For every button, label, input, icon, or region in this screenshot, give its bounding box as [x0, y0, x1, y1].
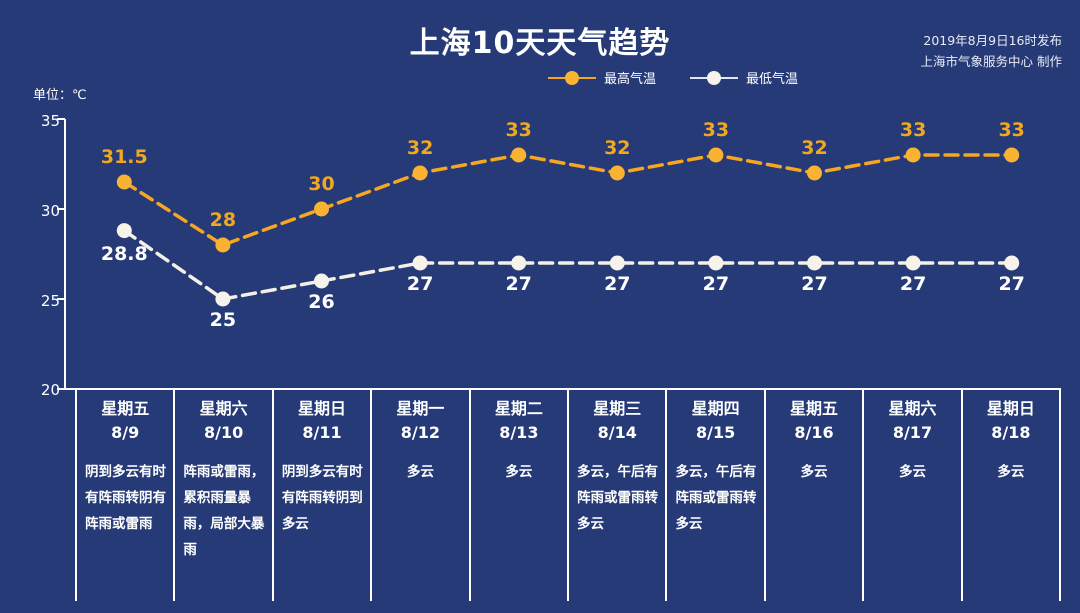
data-point-marker — [807, 166, 822, 181]
high-temp-value-label: 33 — [484, 119, 554, 141]
high-temp-value-label: 33 — [878, 119, 948, 141]
low-temp-value-label: 27 — [878, 273, 948, 295]
day-weekday-label: 星期一 — [372, 397, 468, 421]
day-date-label: 8/11 — [274, 421, 370, 445]
data-point-marker — [413, 256, 428, 271]
low-temp-value-label: 27 — [484, 273, 554, 295]
data-point-marker — [807, 256, 822, 271]
day-date-label: 8/12 — [372, 421, 468, 445]
series-line-high-temp — [124, 155, 1011, 245]
line-marker-icon-high — [548, 70, 596, 86]
day-date-label: 8/16 — [766, 421, 862, 445]
data-point-marker — [117, 223, 132, 238]
low-temp-value-label: 27 — [977, 273, 1047, 295]
day-column[interactable]: 星期二8/13多云 — [469, 389, 567, 601]
day-weather-description: 多云 — [768, 459, 860, 485]
day-weather-description: 阴到多云有时有阵雨转阴到多云 — [276, 459, 368, 537]
low-temp-value-label: 25 — [188, 309, 258, 331]
data-point-marker — [610, 256, 625, 271]
data-point-marker — [117, 175, 132, 190]
day-weekday-label: 星期日 — [963, 397, 1059, 421]
data-point-marker — [708, 256, 723, 271]
day-column[interactable]: 星期六8/10阵雨或雷雨，累积雨量暴雨，局部大暴雨 — [173, 389, 271, 601]
data-point-marker — [708, 148, 723, 163]
legend-label-high-temp: 最高气温 — [604, 68, 656, 87]
high-temp-value-label: 33 — [681, 119, 751, 141]
legend-item-low-temp: 最低气温 — [690, 68, 798, 87]
weather-trend-chart-page: 上海10天天气趋势 2019年8月9日16时发布 上海市气象服务中心 制作 最高… — [0, 0, 1080, 613]
day-column[interactable]: 星期五8/16多云 — [764, 389, 862, 601]
day-date-label: 8/17 — [864, 421, 960, 445]
data-point-marker — [610, 166, 625, 181]
day-date-label: 8/13 — [471, 421, 567, 445]
day-weekday-label: 星期二 — [471, 397, 567, 421]
day-weekday-label: 星期三 — [569, 397, 665, 421]
day-weekday-label: 星期四 — [667, 397, 763, 421]
day-weekday-label: 星期日 — [274, 397, 370, 421]
high-temp-value-label: 33 — [977, 119, 1047, 141]
day-date-label: 8/10 — [175, 421, 271, 445]
day-column[interactable]: 星期日8/18多云 — [961, 389, 1061, 601]
day-column[interactable]: 星期三8/14多云，午后有阵雨或雷雨转多云 — [567, 389, 665, 601]
day-weekday-label: 星期六 — [864, 397, 960, 421]
day-weather-description: 多云 — [374, 459, 466, 485]
data-point-marker — [314, 274, 329, 289]
chart-legend: 最高气温 最低气温 — [548, 68, 798, 87]
low-temp-value-label: 27 — [681, 273, 751, 295]
data-point-marker — [314, 202, 329, 217]
chart-axes — [57, 119, 1061, 389]
day-column[interactable]: 星期日8/11阴到多云有时有阵雨转阴到多云 — [272, 389, 370, 601]
y-tick-20: 20 — [20, 381, 60, 399]
line-marker-icon-low — [690, 70, 738, 86]
legend-item-high-temp: 最高气温 — [548, 68, 656, 87]
day-columns: 星期五8/9阴到多云有时有阵雨转阴有阵雨或雷雨星期六8/10阵雨或雷雨，累积雨量… — [75, 389, 1061, 601]
high-temp-value-label: 32 — [385, 137, 455, 159]
data-point-marker — [413, 166, 428, 181]
day-weather-description: 多云 — [866, 459, 958, 485]
data-point-marker — [215, 292, 230, 307]
day-column[interactable]: 星期四8/15多云，午后有阵雨或雷雨转多云 — [665, 389, 763, 601]
low-temp-value-label: 27 — [582, 273, 652, 295]
legend-label-low-temp: 最低气温 — [746, 68, 798, 87]
publish-time: 2019年8月9日16时发布 — [921, 30, 1062, 51]
y-tick-35: 35 — [20, 112, 60, 130]
publication-info: 2019年8月9日16时发布 上海市气象服务中心 制作 — [921, 30, 1062, 72]
day-weekday-label: 星期六 — [175, 397, 271, 421]
day-date-label: 8/9 — [77, 421, 173, 445]
data-point-marker — [906, 256, 921, 271]
data-point-marker — [511, 148, 526, 163]
high-temp-value-label: 32 — [780, 137, 850, 159]
high-temp-value-label: 32 — [582, 137, 652, 159]
data-point-marker — [215, 238, 230, 253]
day-column[interactable]: 星期五8/9阴到多云有时有阵雨转阴有阵雨或雷雨 — [75, 389, 173, 601]
day-weather-description: 多云，午后有阵雨或雷雨转多云 — [669, 459, 761, 537]
low-temp-value-label: 26 — [287, 291, 357, 313]
data-point-marker — [1004, 256, 1019, 271]
day-date-label: 8/15 — [667, 421, 763, 445]
day-column[interactable]: 星期六8/17多云 — [862, 389, 960, 601]
data-point-marker — [906, 148, 921, 163]
day-weekday-label: 星期五 — [766, 397, 862, 421]
y-tick-25: 25 — [20, 292, 60, 310]
low-temp-value-label: 27 — [385, 273, 455, 295]
page-title: 上海10天天气趋势 — [0, 18, 1080, 62]
day-weather-description: 多云 — [473, 459, 565, 485]
publisher-name: 上海市气象服务中心 制作 — [921, 51, 1062, 72]
low-temp-value-label: 28.8 — [89, 243, 159, 265]
day-weather-description: 多云，午后有阵雨或雷雨转多云 — [571, 459, 663, 537]
high-temp-value-label: 31.5 — [89, 146, 159, 168]
day-weather-description: 阵雨或雷雨，累积雨量暴雨，局部大暴雨 — [177, 459, 269, 563]
y-axis-unit-label: 单位：℃ — [33, 84, 87, 103]
day-date-label: 8/14 — [569, 421, 665, 445]
y-tick-30: 30 — [20, 202, 60, 220]
data-point-marker — [1004, 148, 1019, 163]
high-temp-value-label: 30 — [287, 173, 357, 195]
day-column[interactable]: 星期一8/12多云 — [370, 389, 468, 601]
high-temp-value-label: 28 — [188, 209, 258, 231]
data-point-marker — [511, 256, 526, 271]
day-weather-description: 阴到多云有时有阵雨转阴有阵雨或雷雨 — [79, 459, 171, 537]
day-date-label: 8/18 — [963, 421, 1059, 445]
day-weekday-label: 星期五 — [77, 397, 173, 421]
day-weather-description: 多云 — [965, 459, 1057, 485]
low-temp-value-label: 27 — [780, 273, 850, 295]
